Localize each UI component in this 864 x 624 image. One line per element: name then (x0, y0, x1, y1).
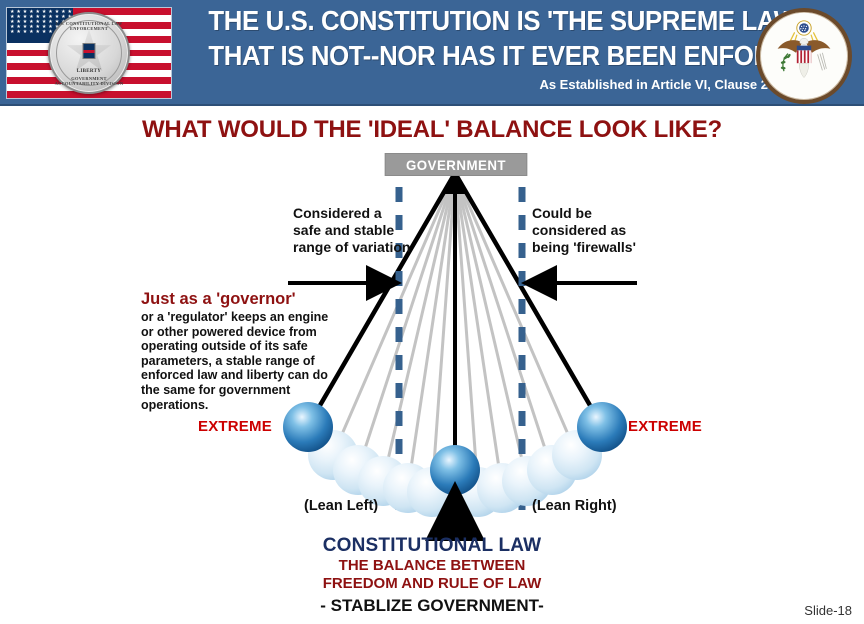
ball-extreme-right (577, 402, 627, 452)
header-banner: ★★★★★★★★★★ ★★★★★★★★★★ ★★★★★★★★★★ ★★★★★★★… (0, 0, 864, 106)
bottom-caption: CONSTITUTIONAL LAW THE BALANCE BETWEEN F… (0, 535, 864, 617)
page-title: WHAT WOULD THE 'IDEAL' BALANCE LOOK LIKE… (0, 116, 864, 144)
firewall-dashed-lines (399, 187, 522, 513)
header-subtitle: As Established in Article VI, Clause 2 (539, 77, 768, 92)
label-extreme-left: EXTREME (198, 418, 272, 435)
pendulum-balls-solid (283, 402, 627, 495)
constitutional-law-enforcement-badge-icon: U.S. CONSTITUTIONAL LAW ENFORCEMENT LIBE… (48, 12, 130, 94)
caption-freedom-rule-of-law: FREEDOM AND RULE OF LAW (0, 575, 864, 593)
caption-balance-between: THE BALANCE BETWEEN (0, 557, 864, 575)
caption-constitutional-law: CONSTITUTIONAL LAW (0, 535, 864, 557)
badge-text-top: U.S. CONSTITUTIONAL LAW ENFORCEMENT (50, 21, 128, 31)
badge-text-bottom: GOVERNMENT ACCOUNTABILITY DIVISION (50, 76, 128, 86)
note-firewalls: Could be considered as being 'firewalls' (532, 205, 657, 256)
government-box: GOVERNMENT (385, 153, 528, 176)
governor-body: or a 'regulator' keeps an engine or othe… (141, 310, 341, 412)
caption-stabilize-government: - STABLIZE GOVERNMENT- (0, 595, 864, 617)
label-lean-right: (Lean Right) (532, 498, 617, 514)
note-safe-range: Considered a safe and stable range of va… (293, 205, 413, 256)
header-title-line2: THAT IS NOT--NOR HAS IT EVER BEEN ENFORC… (208, 39, 723, 72)
slide-root: ★★★★★★★★★★ ★★★★★★★★★★ ★★★★★★★★★★ ★★★★★★★… (0, 0, 864, 624)
header-title-line1: THE U.S. CONSTITUTION IS 'THE SUPREME LA… (208, 4, 723, 37)
us-flag-badge-logo: ★★★★★★★★★★ ★★★★★★★★★★ ★★★★★★★★★★ ★★★★★★★… (6, 7, 172, 99)
great-seal-icon (756, 8, 852, 104)
governor-heading: Just as a 'governor' (141, 290, 341, 309)
label-lean-left: (Lean Left) (304, 498, 378, 514)
arrow-government-up (444, 174, 466, 194)
badge-shield-icon (83, 43, 96, 59)
slide-number: Slide-18 (804, 603, 852, 618)
label-extreme-right: EXTREME (628, 418, 702, 435)
badge-text-center: LIBERTY (50, 69, 128, 74)
ball-center-constitutional-law (430, 445, 480, 495)
governor-explanation-block: Just as a 'governor' or a 'regulator' ke… (141, 290, 341, 412)
header-title: THE U.S. CONSTITUTION IS 'THE SUPREME LA… (186, 4, 746, 72)
